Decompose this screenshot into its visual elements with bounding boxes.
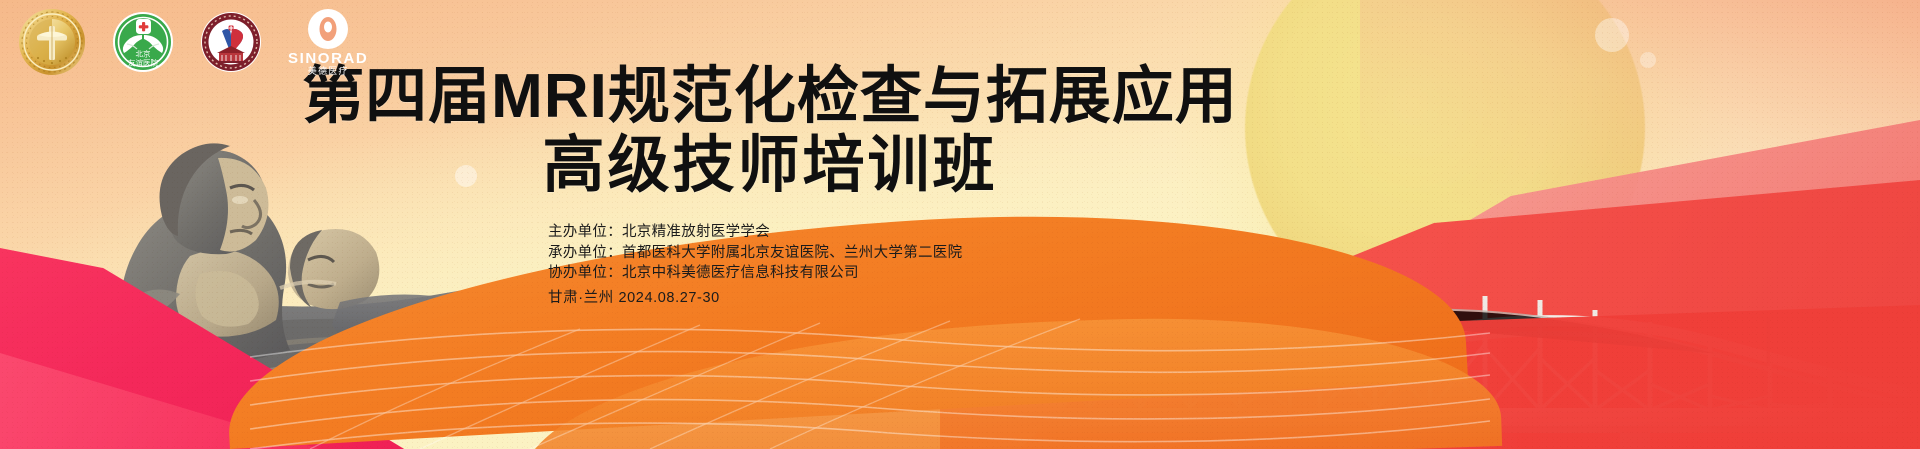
conference-banner: 北京 友谊医院 xyxy=(0,0,1920,449)
title-block: 第四届MRI规范化检查与拓展应用 高级技师培训班 xyxy=(270,62,1270,201)
beijing-youyi-hospital-logo: 北京 友谊医院 xyxy=(112,11,174,73)
organizer-info-block: 主办单位：北京精准放射医学学会 承办单位：首都医科大学附属北京友谊医院、兰州大学… xyxy=(548,222,962,308)
title-line-1: 第四届MRI规范化检查与拓展应用 xyxy=(270,62,1270,131)
organizer-line-undertaker: 承办单位：首都医科大学附属北京友谊医院、兰州大学第二医院 xyxy=(548,243,962,264)
logo-bar: 北京 友谊医院 xyxy=(18,8,368,76)
sinorad-subtext: 美德医疗 xyxy=(308,67,349,76)
lanzhou-university-second-hospital-logo xyxy=(200,11,262,73)
title-line-2: 高级技师培训班 xyxy=(270,131,1270,200)
sinorad-logo: SINORAD 美德医疗 xyxy=(288,8,368,76)
venue-and-date-line: 甘肃·兰州 2024.08.27-30 xyxy=(548,288,962,309)
organizer-line-host: 主办单位：北京精准放射医学学会 xyxy=(548,222,962,243)
sinorad-mark-icon xyxy=(307,8,349,50)
youyi-logo-text-1: 北京 xyxy=(136,49,151,59)
youyi-logo-text-2: 友谊医院 xyxy=(128,58,158,68)
gold-seal-logo xyxy=(18,8,86,76)
sinorad-wordmark: SINORAD xyxy=(288,51,368,66)
organizer-line-coorganizer: 协办单位：北京中科美德医疗信息科技有限公司 xyxy=(548,263,962,284)
